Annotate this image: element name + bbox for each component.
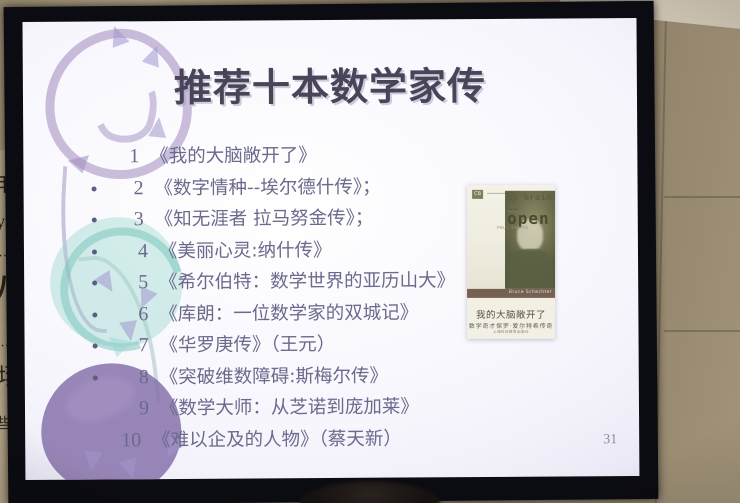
list-item-label: 《希尔伯特：数学世界的亚历山大》 [159, 270, 455, 293]
list-item-label: 《数字情种--埃尔德什传》； [154, 176, 380, 198]
list-bullet-icon [92, 281, 97, 286]
book-cover-upper: CB my brain is THE MATHEMATICAL JOURNEYS… [467, 185, 555, 289]
list-item: 3 《知无涯者 拉马努金传》； [92, 202, 512, 236]
list-bullet-icon [92, 312, 97, 317]
list-item-number: 7 [122, 330, 148, 362]
list-item: 9 《数学大师：从芝诺到庞加莱》 [93, 391, 513, 425]
list-item-number: 2 [117, 173, 143, 205]
list-item-number: 10 [115, 425, 141, 457]
classroom-photo-scene: 年 y … 八 … 场 些数 [0, 0, 740, 503]
list-item-label: 《我的大脑敞开了》 [150, 145, 317, 167]
book-cover-english-subtitle-2: PAUL ERDOS [497, 225, 528, 230]
publisher-logo-icon: CB [472, 190, 483, 199]
book-cover-band: Bruce Schechter [467, 289, 555, 298]
wall-seam [664, 196, 740, 198]
book-cover-image: CB my brain is THE MATHEMATICAL JOURNEYS… [467, 185, 555, 339]
list-item: 5 《希尔伯特：数学世界的亚历山大》 [92, 265, 512, 299]
list-item-number: 6 [122, 299, 148, 331]
list-item: 6 《库朗：一位数学家的双城记》 [92, 296, 512, 330]
confetti-triangle-icon [148, 116, 168, 138]
book-cover-chinese-title: 我的大脑敞开了 [467, 307, 555, 321]
list-item-label: 《知无涯者 拉马努金传》； [155, 208, 374, 230]
list-item-label: 《突破维数障碍:斯梅尔传》 [160, 365, 388, 387]
list-item-number: 1 [113, 141, 139, 173]
list-item-label: 《美丽心灵:纳什传》 [159, 239, 332, 261]
book-cover-chinese-subtitle: 数学奇才保罗·爱尔特希传奇 [467, 321, 555, 330]
slide-page-number: 31 [603, 432, 617, 448]
list-bullet-icon [92, 186, 97, 191]
slide-title: 推荐十本数学家传 [23, 54, 637, 113]
list-item-number: 8 [123, 362, 149, 394]
list-item: 2 《数字情种--埃尔德什传》； [91, 170, 511, 204]
list-bullet-icon [92, 249, 97, 254]
list-item: 8 《突破维数障碍:斯梅尔传》 [93, 359, 513, 393]
confetti-triangle-icon [106, 23, 130, 48]
list-bullet-icon [93, 375, 98, 380]
book-cover-author: Bruce Schechter [509, 290, 552, 295]
balloon-knot-icon [68, 155, 93, 176]
list-item-label: 《库朗：一位数学家的双城记》 [159, 302, 418, 325]
projector-screen-frame: 推荐十本数学家传 1 《我的大脑敞开了》 2 《数字情种--埃尔德什传》； 3 … [4, 1, 659, 503]
list-item-label: 《华罗庚传》（王元） [159, 334, 335, 356]
list-item: 7 《华罗庚传》（王元） [92, 328, 512, 362]
list-item: 10 《难以企及的人物》（蔡天新） [93, 422, 513, 456]
list-item-number: 4 [122, 236, 148, 268]
book-cover-publisher: 上海科技教育出版社 [467, 330, 555, 335]
wall-seam [664, 330, 740, 332]
divider [487, 193, 505, 194]
list-item-number: 9 [123, 393, 149, 425]
list-item-number: 5 [122, 267, 148, 299]
list-item-label: 《数学大师：从芝诺到庞加莱》 [160, 396, 419, 419]
portrait-body [509, 249, 553, 289]
presentation-slide: 推荐十本数学家传 1 《我的大脑敞开了》 2 《数字情种--埃尔德什传》； 3 … [22, 18, 639, 480]
confetti-triangle-icon [119, 457, 142, 480]
list-bullet-icon [92, 218, 97, 223]
list-item: 1 《我的大脑敞开了》 [91, 139, 511, 173]
book-recommendation-list: 1 《我的大脑敞开了》 2 《数字情种--埃尔德什传》； 3 《知无涯者 拉马努… [91, 139, 513, 457]
list-item-label: 《难以企及的人物》（蔡天新） [152, 428, 402, 451]
list-item: 4 《美丽心灵:纳什传》 [92, 233, 512, 267]
list-bullet-icon [93, 344, 98, 349]
list-item-number: 3 [118, 204, 144, 236]
